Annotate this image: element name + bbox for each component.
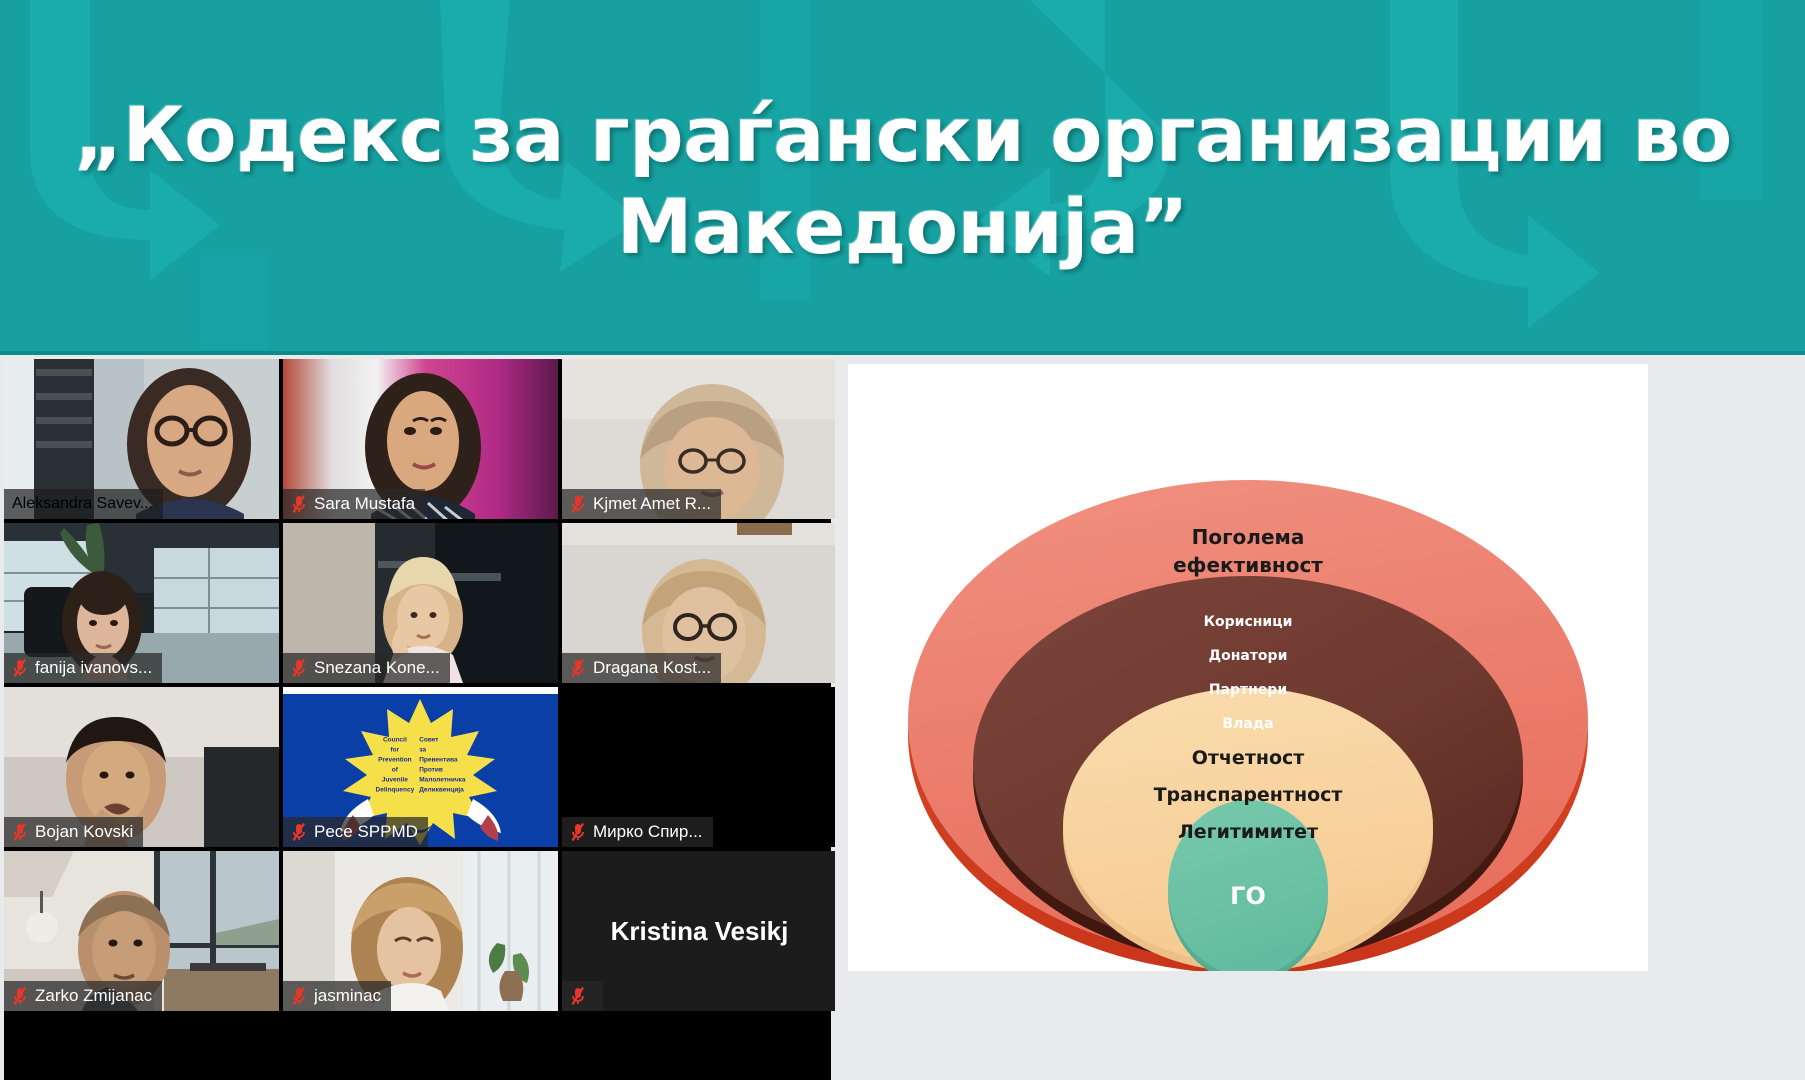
- ring-label-1-line-3: Влада: [1222, 716, 1273, 732]
- mic-muted-icon: [570, 822, 586, 842]
- mic-muted-icon: [291, 822, 307, 842]
- participant-namebar: Dragana Kost...: [562, 653, 721, 683]
- concentric-ellipse-diagram: Поголема ефективност Корисници Донатори …: [848, 364, 1648, 971]
- participant-name: Snezana Kone...: [314, 658, 440, 678]
- participant-tile[interactable]: Snezana Kone...: [283, 523, 558, 683]
- participant-tile[interactable]: Sara Mustafa: [283, 359, 558, 519]
- participant-name: Sara Mustafa: [314, 494, 415, 514]
- participant-name: Kjmet Amet R...: [593, 494, 711, 514]
- participant-name: jasminac: [314, 986, 381, 1006]
- participant-namebar: Kjmet Amet R...: [562, 489, 721, 519]
- participant-namebar: Pece SPPMD: [283, 817, 428, 847]
- ring-label-0-line-0: Поголема: [1192, 525, 1305, 549]
- participant-namebar: jasminac: [283, 981, 391, 1011]
- participant-name: Aleksandra Savev...: [12, 495, 153, 513]
- participant-name: Мирко Спир...: [593, 822, 703, 842]
- screen-share-pane: Поголема ефективност Корисници Донатори …: [835, 359, 1801, 1080]
- participant-tile[interactable]: Kjmet Amet R...: [562, 359, 837, 519]
- ring-label-3-core: ГО: [1230, 882, 1266, 910]
- participant-tile[interactable]: Bojan Kovski: [4, 687, 279, 847]
- participant-name: Pece SPPMD: [314, 822, 418, 842]
- participant-video-grid: Aleksandra Savev...: [4, 359, 831, 1080]
- mic-muted-icon: [12, 658, 28, 678]
- participant-tile[interactable]: CouncilforPreventionofJuvenileDelinquenc…: [283, 687, 558, 847]
- participant-display-name: Kristina Vesikj: [562, 851, 837, 1011]
- participant-namebar: Snezana Kone...: [283, 653, 450, 683]
- ring-label-1-line-1: Донатори: [1209, 648, 1288, 664]
- participant-namebar: Aleksandra Savev...: [4, 489, 163, 519]
- participant-name: Dragana Kost...: [593, 658, 711, 678]
- mic-muted-icon: [570, 494, 586, 514]
- mic-muted-icon: [291, 494, 307, 514]
- meeting-screen: „Кодекс за граѓански организации во Маке…: [0, 0, 1805, 1080]
- participant-namebar: [562, 981, 603, 1011]
- participant-namebar: Мирко Спир...: [562, 817, 713, 847]
- participant-tile[interactable]: Dragana Kost...: [562, 523, 837, 683]
- mic-muted-icon: [291, 658, 307, 678]
- ring-label-2-line-2: Легитимитет: [1178, 821, 1318, 843]
- banner-title-line-1: „Кодекс за граѓански организации во: [73, 96, 1731, 174]
- logo-text-left: CouncilforPreventionofJuvenileDelinquenc…: [376, 736, 415, 796]
- mic-muted-icon: [570, 658, 586, 678]
- mic-muted-icon: [12, 986, 28, 1006]
- participant-namebar: Bojan Kovski: [4, 817, 143, 847]
- mic-muted-icon: [570, 986, 586, 1006]
- presentation-slide: Поголема ефективност Корисници Донатори …: [848, 364, 1648, 971]
- participant-tile[interactable]: fanija ivanovs...: [4, 523, 279, 683]
- participant-name: Bojan Kovski: [35, 822, 133, 842]
- participant-name: fanija ivanovs...: [35, 658, 152, 678]
- participant-namebar: Sara Mustafa: [283, 489, 425, 519]
- logo-text-right: СоветзаПревентиваПротивМалолетничкаДелик…: [419, 736, 465, 796]
- ring-label-1-line-2: Партнери: [1209, 682, 1287, 698]
- ring-label-1-line-0: Корисници: [1204, 614, 1293, 630]
- participant-namebar: fanija ivanovs...: [4, 653, 162, 683]
- banner-title-line-2: Македонија”: [617, 188, 1188, 266]
- ring-label-0-line-1: ефективност: [1173, 553, 1323, 577]
- banner-bottom-edge: [0, 351, 1805, 355]
- participant-name: Zarko Zmijanac: [35, 986, 152, 1006]
- participant-tile[interactable]: Aleksandra Savev...: [4, 359, 279, 519]
- slide-title-banner: „Кодекс за граѓански организации во Маке…: [0, 0, 1805, 355]
- ring-label-2-line-0: Отчетност: [1192, 747, 1305, 769]
- participant-tile[interactable]: Zarko Zmijanac: [4, 851, 279, 1011]
- participant-tile[interactable]: Мирко Спир...: [562, 687, 837, 847]
- participant-tile[interactable]: Kristina Vesikj: [562, 851, 837, 1011]
- participant-namebar: Zarko Zmijanac: [4, 981, 162, 1011]
- mic-muted-icon: [12, 822, 28, 842]
- participant-tile[interactable]: jasminac: [283, 851, 558, 1011]
- ring-label-2-line-1: Транспарентност: [1154, 784, 1343, 806]
- mic-muted-icon: [291, 986, 307, 1006]
- logo-text: CouncilforPreventionofJuvenileDelinquenc…: [376, 736, 466, 796]
